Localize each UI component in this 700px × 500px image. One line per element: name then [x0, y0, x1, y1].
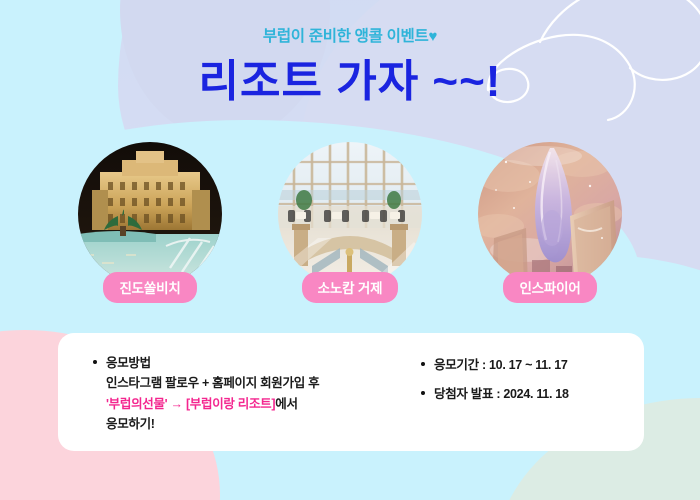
- resort-night-pool-photo: [78, 142, 222, 286]
- entry-method-line-2-suffix: 에서: [275, 397, 297, 411]
- resort-badge-label: 진도쏠비치: [103, 272, 196, 303]
- entry-period-item: 응모기간 : 10. 17 ~ 11. 17: [420, 355, 644, 375]
- resort-sunset-tower-photo: [478, 142, 622, 286]
- event-subtitle: 부럽이 준비한 앵콜 이벤트♥: [0, 29, 700, 45]
- event-banner: 부럽이 준비한 앵콜 이벤트♥ 리조트 가자 ~~!: [0, 0, 700, 500]
- entry-method-heading-text: 응모방법: [106, 353, 398, 373]
- entry-method-section: 응모방법 인스타그램 팔로우 + 홈페이지 회원가입 후 '부럽의선물' → […: [58, 333, 398, 451]
- resort-badge-label: 인스파이어: [503, 272, 596, 303]
- winner-announcement-item: 당첨자 발표 : 2024. 11. 18: [420, 384, 644, 404]
- list-item[interactable]: 인스파이어: [478, 142, 622, 303]
- entry-method-heading: 응모방법: [92, 353, 398, 373]
- entry-method-line-1: 인스타그램 팔로우 + 홈페이지 회원가입 후: [92, 373, 398, 393]
- page-title: 리조트 가자 ~~!: [0, 59, 700, 105]
- banner-header: 부럽이 준비한 앵콜 이벤트♥ 리조트 가자 ~~!: [0, 0, 700, 105]
- gift-menu-highlight: '부럽의선물': [106, 397, 167, 411]
- entry-method-line-2: '부럽의선물' → [부럽이랑 리조트]에서: [92, 394, 398, 414]
- resort-badge-label: 소노캄 거제: [302, 272, 399, 303]
- resort-list: 진도쏠비치: [0, 142, 700, 303]
- list-item[interactable]: 소노캄 거제: [278, 142, 422, 303]
- list-item[interactable]: 진도쏠비치: [78, 142, 222, 303]
- event-details-section: 응모기간 : 10. 17 ~ 11. 17 당첨자 발표 : 2024. 11…: [398, 333, 644, 451]
- winner-announcement-text: 당첨자 발표 : 2024. 11. 18: [434, 384, 644, 404]
- event-info-card: 응모방법 인스타그램 팔로우 + 홈페이지 회원가입 후 '부럽의선물' → […: [58, 333, 644, 451]
- entry-method-line-3: 응모하기!: [92, 414, 398, 434]
- arrow-icon: →: [171, 397, 183, 411]
- heart-icon: ♥: [428, 28, 437, 45]
- resort-menu-highlight: [부럽이랑 리조트]: [186, 397, 275, 411]
- entry-period-text: 응모기간 : 10. 17 ~ 11. 17: [434, 355, 644, 375]
- event-subtitle-text: 부럽이 준비한 앵콜 이벤트: [263, 28, 429, 45]
- resort-atrium-lobby-photo: [278, 142, 422, 286]
